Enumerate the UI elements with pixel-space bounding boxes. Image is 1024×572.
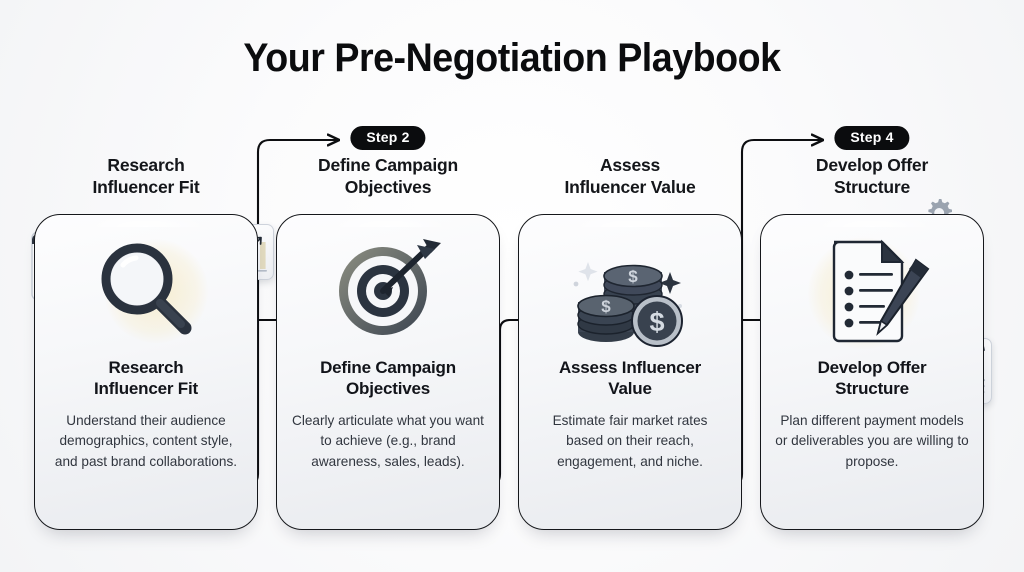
svg-text:$: $ <box>649 307 664 337</box>
step-heading-3-line1: Assess <box>600 155 660 175</box>
step-heading-2-line1: Define Campaign <box>318 155 458 175</box>
step-heading-2-line2: Objectives <box>345 177 432 197</box>
step-heading-1: Research Influencer Fit <box>28 154 264 199</box>
step-column-4: Step 4 Develop Offer Structure <box>754 126 990 546</box>
step-card-1[interactable]: Research Influencer Fit Understand their… <box>34 214 258 530</box>
step-heading-3-line2: Influencer Value <box>564 177 695 197</box>
step-heading-4-line1: Develop Offer <box>816 155 928 175</box>
step-card-body-1: Understand their audience demographics, … <box>49 411 243 472</box>
step-card-title-4-line1: Develop Offer <box>818 358 927 377</box>
step-card-3[interactable]: $ $ <box>518 214 742 530</box>
step-heading-1-line1: Research <box>107 155 184 175</box>
step-card-title-2: Define Campaign Objectives <box>289 357 487 400</box>
step-card-title-2-line1: Define Campaign <box>320 358 456 377</box>
step-heading-4: Develop Offer Structure <box>754 154 990 199</box>
step-card-body-4: Plan different payment models or deliver… <box>775 411 969 472</box>
step-card-body-2: Clearly articulate what you want to achi… <box>291 411 485 472</box>
step-card-4[interactable]: Develop Offer Structure Plan different p… <box>760 214 984 530</box>
step-card-title-3-line1: Assess Influencer <box>559 358 701 377</box>
document-pen-checklist-icon <box>761 223 983 355</box>
step-heading-4-line2: Structure <box>834 177 910 197</box>
step-card-title-1-line2: Influencer Fit <box>94 379 198 398</box>
step-card-title-4: Develop Offer Structure <box>773 357 971 400</box>
step-card-title-1: Research Influencer Fit <box>47 357 245 400</box>
target-arrow-icon <box>277 223 499 355</box>
step-column-3: Step 3 Assess Influencer Value <box>512 126 748 546</box>
svg-text:$: $ <box>628 267 638 286</box>
step-card-title-3-line2: Value <box>608 379 651 398</box>
step-heading-3: Assess Influencer Value <box>512 154 748 199</box>
step-card-title-2-line2: Objectives <box>346 379 430 398</box>
step-card-2[interactable]: Define Campaign Objectives Clearly artic… <box>276 214 500 530</box>
step-card-title-3: Assess Influencer Value <box>531 357 729 400</box>
infographic-canvas: Your Pre-Negotiation Playbook <box>0 0 1024 572</box>
step-heading-1-line2: Influencer Fit <box>92 177 199 197</box>
step-card-title-1-line1: Research <box>109 358 184 377</box>
step-column-2: Step 2 Define Campaign Objectives <box>270 126 506 546</box>
step-card-body-3: Estimate fair market rates based on thei… <box>533 411 727 472</box>
step-column-1: Step 1 Research Influencer Fit <box>28 126 264 546</box>
step-heading-2: Define Campaign Objectives <box>270 154 506 199</box>
svg-text:$: $ <box>601 297 611 316</box>
page-title: Your Pre-Negotiation Playbook <box>31 36 994 81</box>
step-badge-2: Step 2 <box>350 126 425 150</box>
step-card-title-4-line2: Structure <box>835 379 909 398</box>
step-badge-4: Step 4 <box>834 126 909 150</box>
magnifying-glass-icon <box>35 223 257 355</box>
coin-stack-dollar-icon: $ $ <box>519 223 741 355</box>
